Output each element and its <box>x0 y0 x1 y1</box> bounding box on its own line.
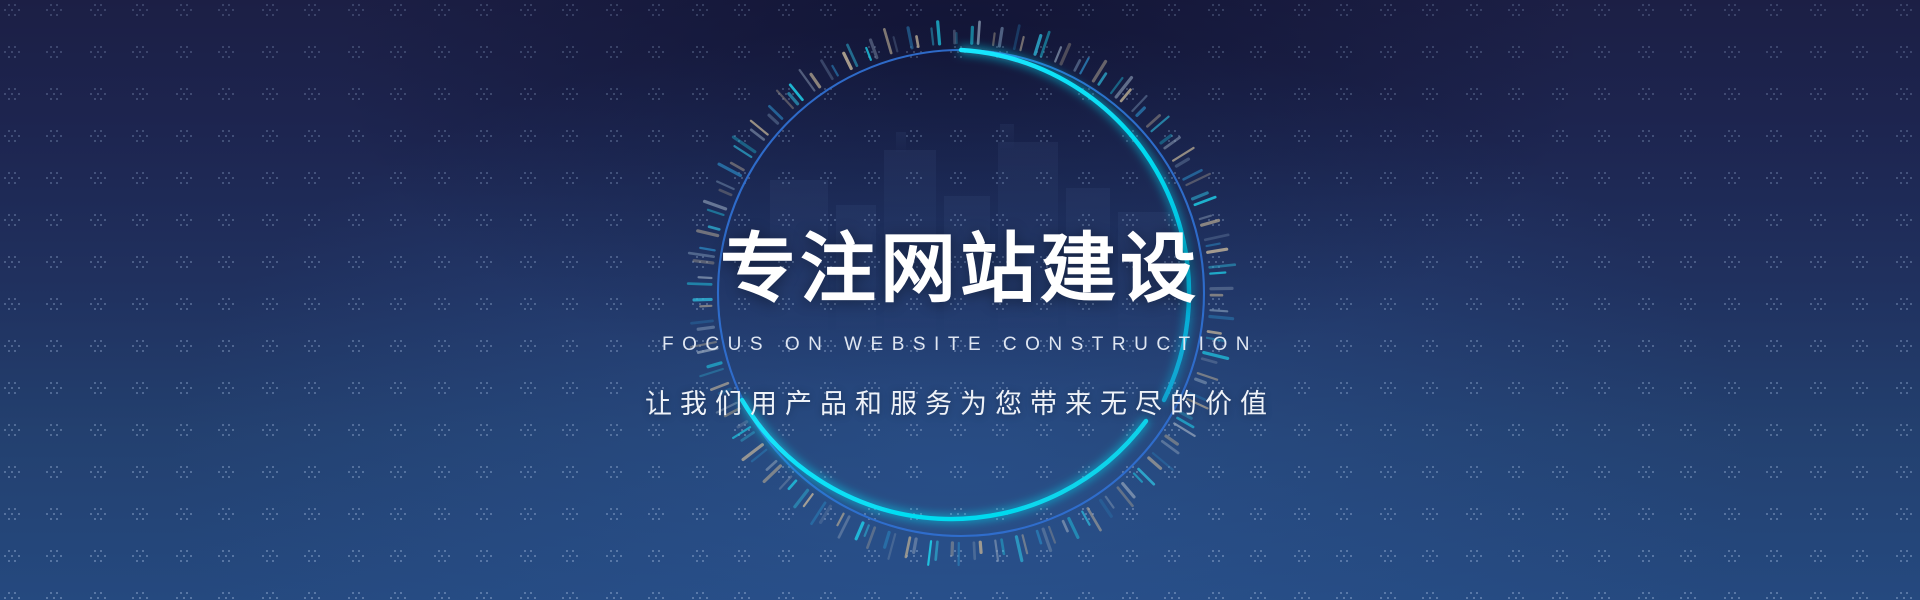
banner-tagline: 让我们用产品和服务为您带来无尽的价值 <box>645 382 1275 421</box>
banner-subtitle: FOCUS ON WEBSITE CONSTRUCTION <box>662 334 1258 356</box>
banner-title: 专注网站建设 <box>720 232 1200 308</box>
banner-content: 专注网站建设 FOCUS ON WEBSITE CONSTRUCTION 让我们… <box>0 0 1920 600</box>
hero-banner: 专注网站建设 FOCUS ON WEBSITE CONSTRUCTION 让我们… <box>0 0 1920 600</box>
